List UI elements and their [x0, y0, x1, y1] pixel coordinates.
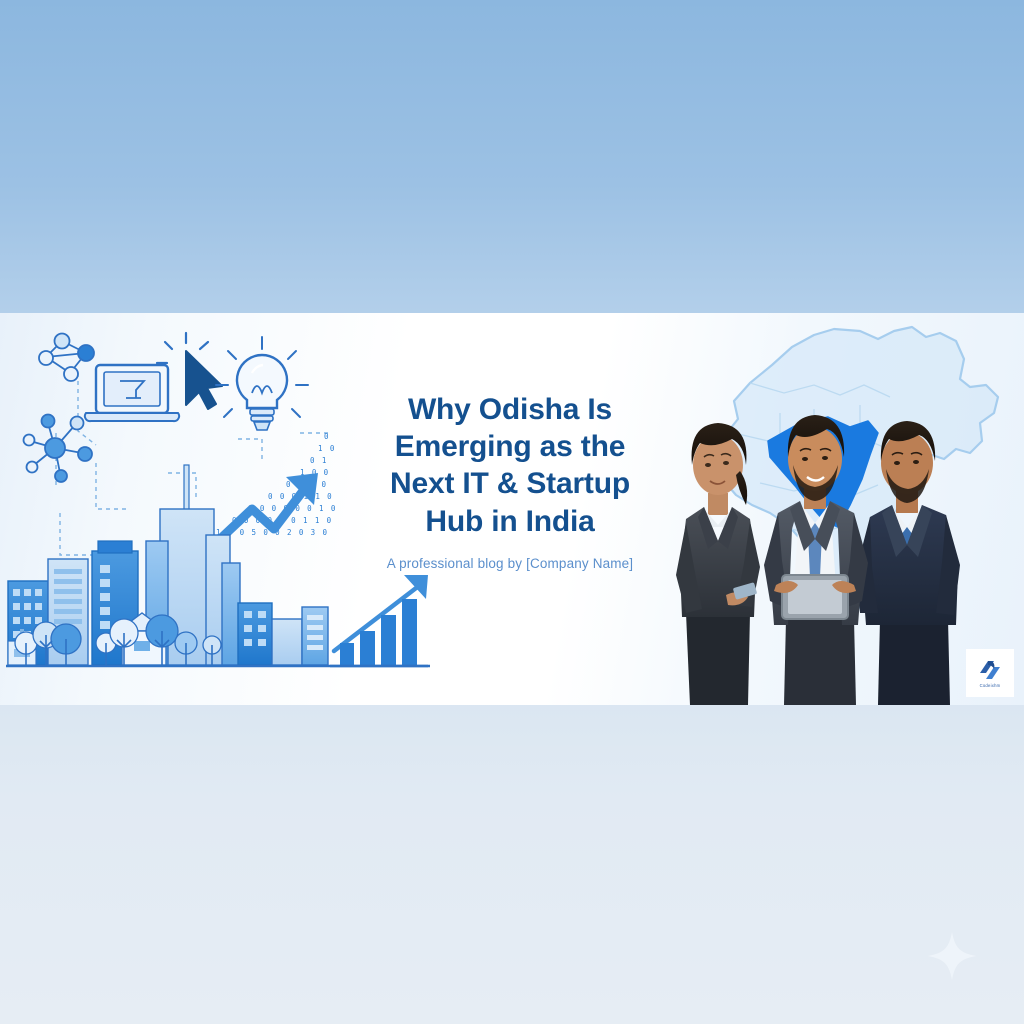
businessman-center: [764, 415, 868, 705]
sparkle-icon: [926, 930, 978, 982]
laptop-icon: [85, 365, 179, 421]
svg-text:0: 0: [324, 432, 330, 441]
hero-banner: 0 1 0 0 1 1 0 0 0 0 1 0 0 0 0 1 1 0 0 0 …: [0, 313, 1024, 705]
businesswoman-left: [676, 423, 760, 705]
headline-line-2: Emerging as the: [395, 430, 625, 463]
logo-wordmark: Codeixhm: [980, 683, 1001, 688]
molecule-nodes-icon: [24, 415, 93, 483]
logo-mark: [977, 659, 1003, 681]
headline-line-1: Why Odisha Is: [408, 393, 612, 426]
subtitle: A professional blog by [Company Name]: [355, 556, 665, 571]
bar-chart: [330, 599, 428, 666]
svg-text:0 1: 0 1: [310, 456, 328, 465]
headline-line-3: Next IT & Startup: [390, 467, 630, 500]
business-people-photo: [664, 313, 1024, 705]
lightbulb-icon: [216, 337, 308, 430]
svg-text:1 0: 1 0: [318, 444, 336, 453]
company-logo[interactable]: Codeixhm: [966, 649, 1014, 697]
page-title: Why Odisha Is Emerging as the Next IT & …: [355, 391, 665, 540]
headline-line-4: Hub in India: [425, 505, 594, 538]
right-illustration: Codeixhm: [664, 313, 1024, 705]
network-nodes-icon: [39, 334, 94, 382]
headline-block: Why Odisha Is Emerging as the Next IT & …: [355, 391, 665, 571]
